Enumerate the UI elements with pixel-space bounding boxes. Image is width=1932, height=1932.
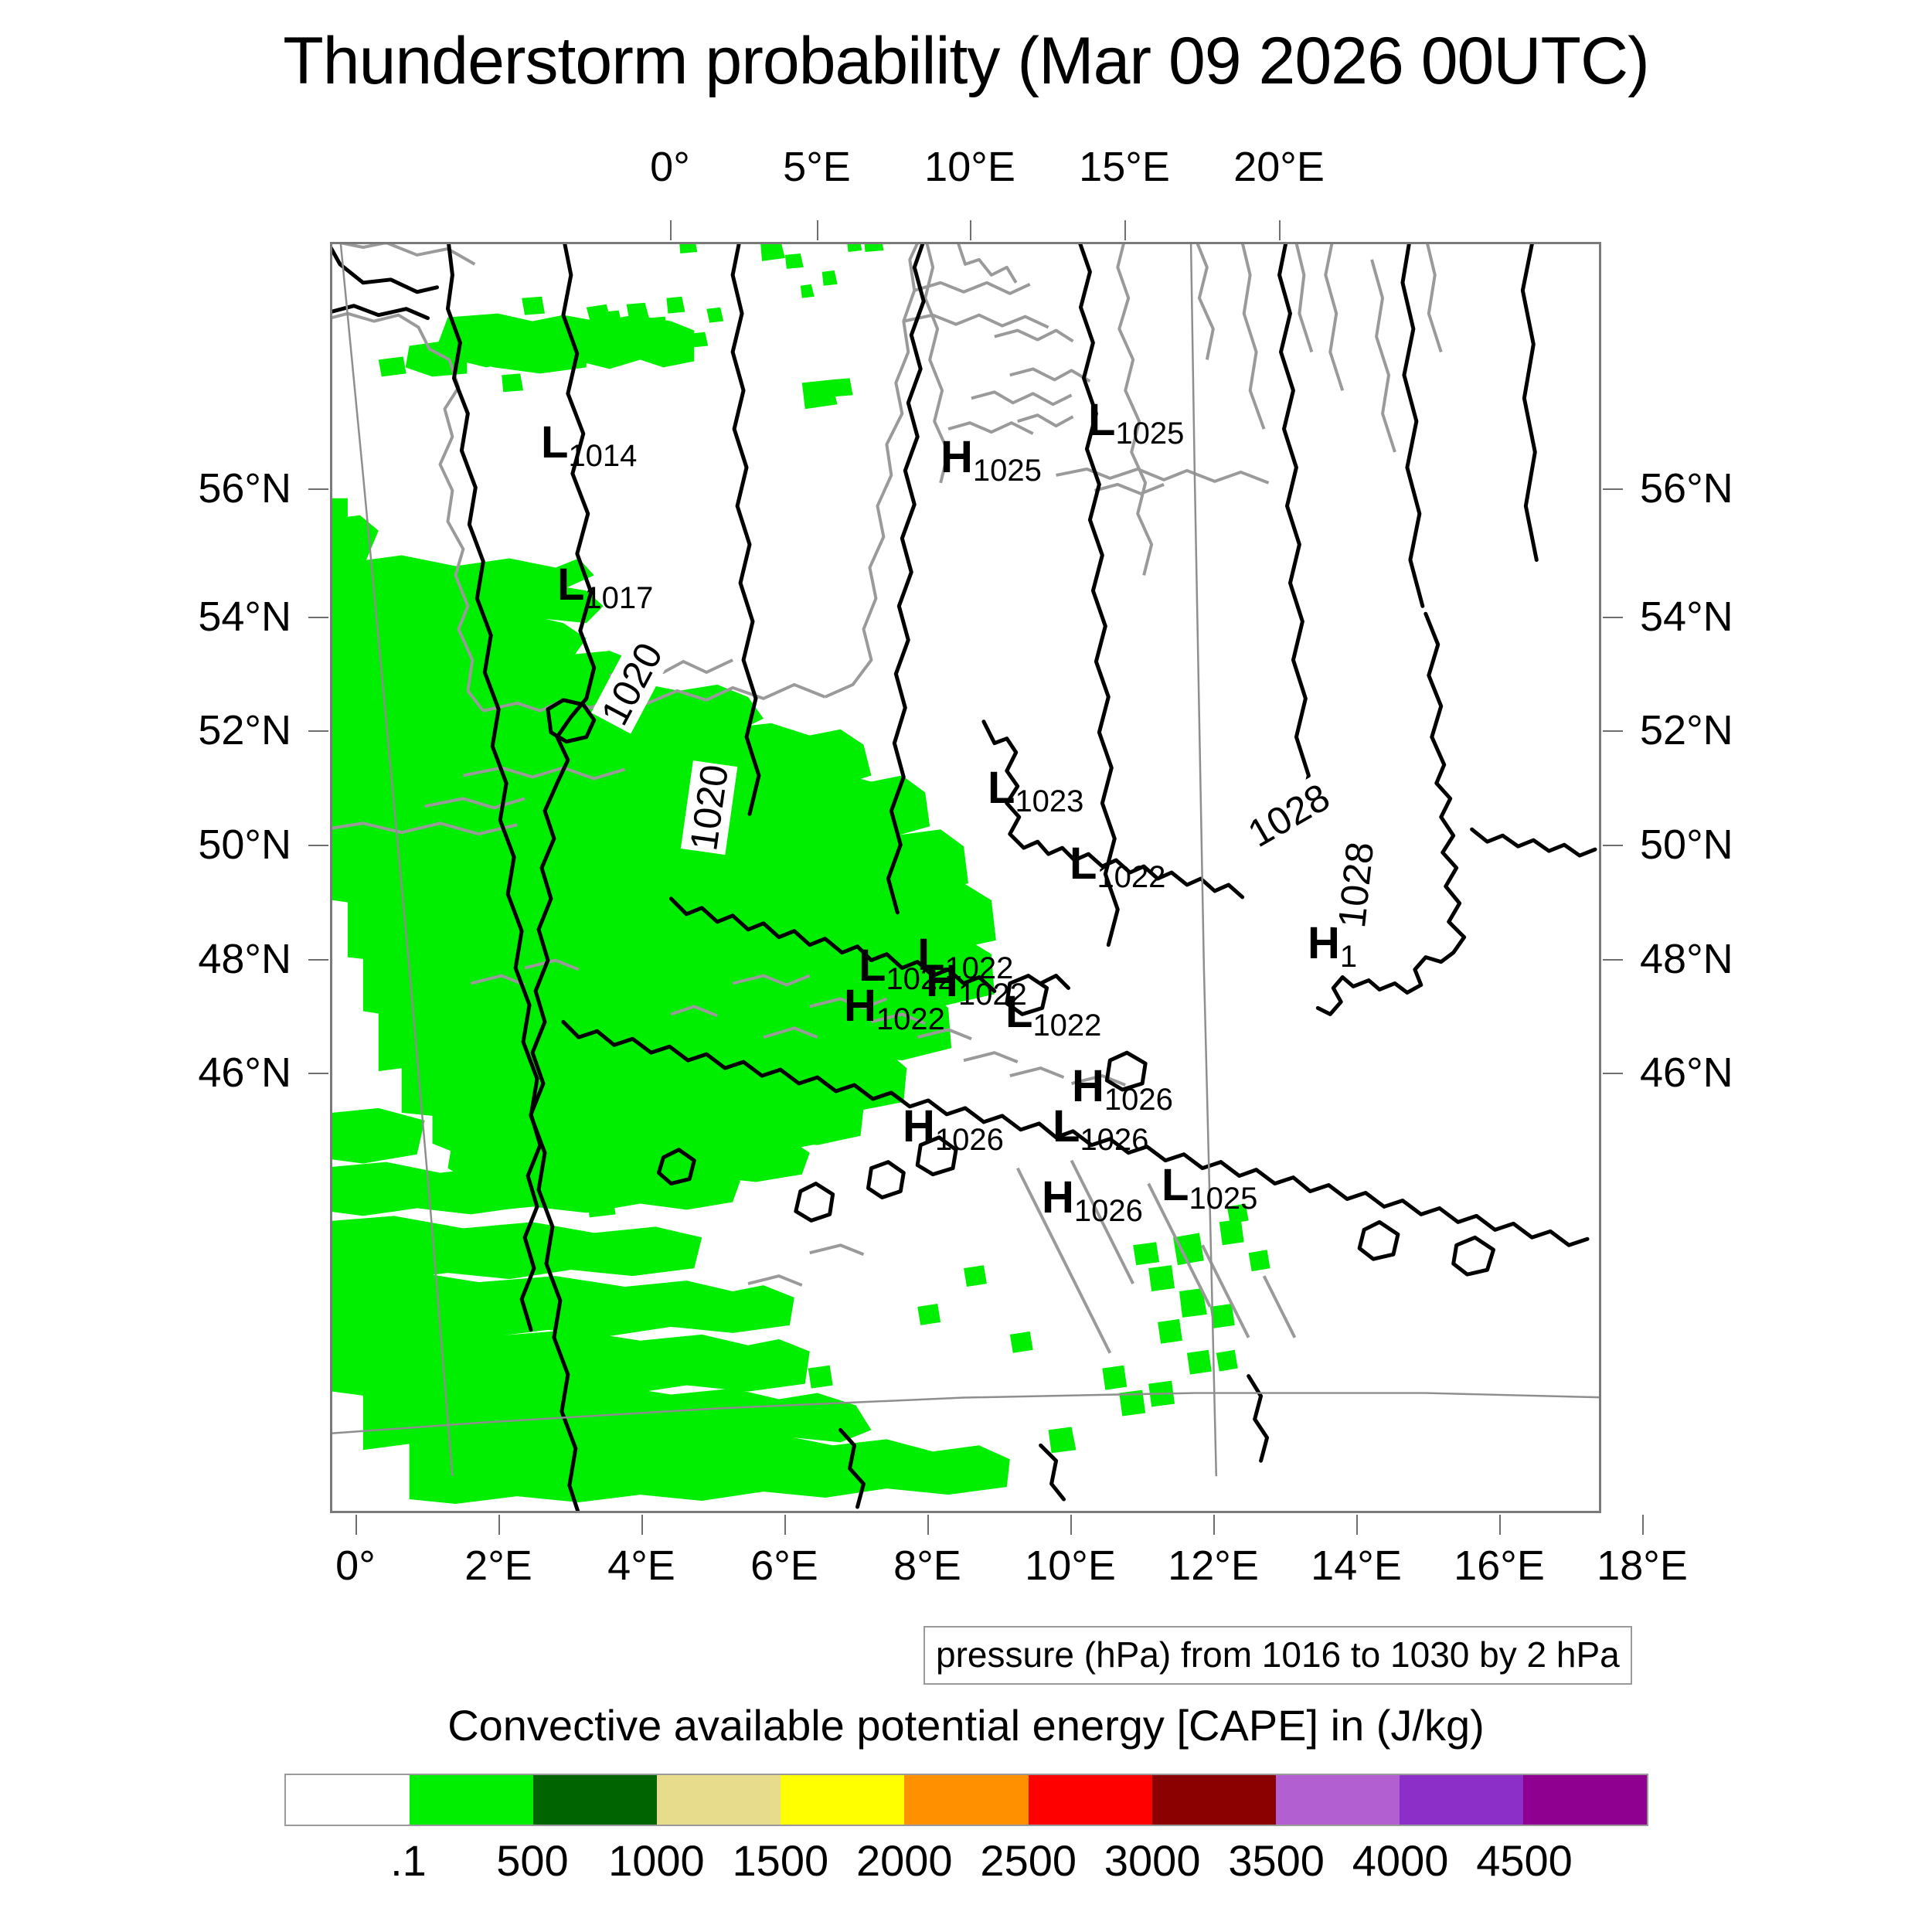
pressure-center-value: 1026 (935, 1123, 1004, 1157)
pressure-center-type: L (1070, 838, 1097, 889)
left-axis-tick-1 (308, 617, 328, 618)
bottom-axis-label-9: 18°E (1597, 1542, 1688, 1590)
colorbar-label-3: 1500 (733, 1835, 829, 1886)
pressure-center-value: 1025 (1115, 417, 1184, 451)
colorbar-swatch-above-4500[interactable] (1523, 1775, 1647, 1825)
bottom-axis-tick-8 (1499, 1515, 1501, 1535)
colorbar-label-4: 2000 (856, 1835, 953, 1886)
right-axis-label-4: 48°N (1640, 935, 1733, 983)
pressure-legend-box: pressure (hPa) from 1016 to 1030 by 2 hP… (923, 1626, 1632, 1685)
pressure-center-L-1017: L1017 (557, 563, 653, 614)
pressure-center-L-1025-b: L1025 (1162, 1163, 1257, 1214)
bottom-axis-tick-7 (1356, 1515, 1358, 1535)
top-axis-label-2: 10°E (924, 143, 1015, 191)
top-axis-label-4: 20°E (1233, 143, 1325, 191)
pressure-center-type: H (903, 1101, 935, 1151)
left-axis-label-5: 46°N (198, 1049, 291, 1097)
bottom-axis-tick-3 (784, 1515, 786, 1535)
pressure-center-L-1026: L1026 (1053, 1104, 1148, 1155)
colorbar-label-0: .1 (390, 1835, 427, 1886)
bottom-axis-tick-6 (1213, 1515, 1215, 1535)
colorbar-label-6: 3000 (1104, 1835, 1201, 1886)
colorbar-label-2: 1000 (608, 1835, 705, 1886)
bottom-axis-label-7: 14°E (1311, 1542, 1402, 1590)
bottom-axis-label-1: 2°E (464, 1542, 532, 1590)
top-axis-tick-1 (817, 220, 818, 240)
right-axis-label-5: 46°N (1640, 1049, 1733, 1097)
pressure-center-L-1014: L1014 (541, 420, 637, 471)
map-plot-area[interactable]: L1014L1017H1025L1025L1023L1022L1022L1022… (330, 242, 1601, 1513)
left-axis-tick-4 (308, 959, 328, 961)
pressure-center-value: 1025 (973, 454, 1042, 488)
colorbar-label-5: 2500 (980, 1835, 1077, 1886)
bottom-axis-label-0: 0° (335, 1542, 376, 1590)
bottom-axis-tick-2 (641, 1515, 643, 1535)
right-axis-tick-4 (1603, 959, 1623, 961)
top-axis-tick-3 (1124, 220, 1126, 240)
left-axis-label-3: 50°N (198, 821, 291, 869)
colorbar-tick-labels: .150010001500200025003000350040004500 (284, 1835, 1648, 1889)
pressure-center-value: 1022 (1097, 860, 1165, 894)
cape-colorbar[interactable] (284, 1774, 1648, 1826)
top-axis-label-1: 5°E (783, 143, 851, 191)
left-axis-label-2: 52°N (198, 706, 291, 754)
bottom-axis-tick-4 (927, 1515, 929, 1535)
pressure-center-type: L (541, 417, 568, 468)
colorbar-swatch-2500-3000[interactable] (1029, 1775, 1152, 1825)
pressure-center-type: L (1005, 987, 1032, 1037)
left-axis-tick-5 (308, 1073, 328, 1074)
top-axis-tick-2 (970, 220, 971, 240)
pressure-center-type: H (1042, 1172, 1074, 1223)
colorbar-swatch-500-1000[interactable] (533, 1775, 657, 1825)
right-axis-label-3: 50°N (1640, 821, 1733, 869)
pressure-center-value: 1023 (1015, 784, 1083, 818)
colorbar-swatch-4000-4500[interactable] (1400, 1775, 1523, 1825)
right-axis-tick-3 (1603, 845, 1623, 846)
pressure-center-value: 1022 (1032, 1009, 1101, 1043)
right-axis-tick-2 (1603, 730, 1623, 732)
pressure-center-value: 1025 (1189, 1182, 1257, 1216)
colorbar-caption: Convective available potential energy [C… (0, 1700, 1932, 1750)
bottom-axis-label-4: 8°E (893, 1542, 961, 1590)
colorbar-swatch-0.1-500[interactable] (410, 1775, 533, 1825)
colorbar-label-1: 500 (496, 1835, 568, 1886)
pressure-center-H-1022-b: H1022 (844, 984, 945, 1035)
left-axis-tick-3 (308, 845, 328, 846)
right-axis-tick-1 (1603, 617, 1623, 618)
bottom-axis-label-3: 6°E (750, 1542, 818, 1590)
colorbar-swatch-3000-3500[interactable] (1152, 1775, 1276, 1825)
top-axis-tick-0 (670, 220, 672, 240)
colorbar-label-8: 4000 (1352, 1835, 1449, 1886)
pressure-center-type: L (1053, 1101, 1080, 1151)
colorbar-label-9: 4500 (1476, 1835, 1573, 1886)
right-axis-label-2: 52°N (1640, 706, 1733, 754)
right-axis-label-1: 54°N (1640, 593, 1733, 641)
right-axis-tick-0 (1603, 488, 1623, 490)
pressure-center-H-1026-c: H1026 (1042, 1175, 1143, 1226)
pressure-center-type: L (988, 763, 1015, 813)
left-axis-tick-2 (308, 730, 328, 732)
pressure-center-type: L (1088, 395, 1115, 445)
contour-label-1028-b: 1028 (1329, 838, 1383, 932)
pressure-center-type: H (844, 981, 876, 1031)
pressure-center-type: L (557, 560, 584, 610)
pressure-center-L-1022-a: L1022 (1070, 842, 1165, 893)
bottom-axis-tick-9 (1642, 1515, 1644, 1535)
left-axis-label-0: 56°N (198, 464, 291, 512)
left-axis-label-4: 48°N (198, 935, 291, 983)
pressure-center-H-1026-b: H1026 (903, 1104, 1004, 1155)
bottom-axis-label-6: 12°E (1168, 1542, 1259, 1590)
page-title: Thunderstorm probability (Mar 09 2026 00… (0, 23, 1932, 100)
colorbar-swatch-1500-2000[interactable] (781, 1775, 904, 1825)
pressure-center-L-1023: L1023 (988, 766, 1083, 817)
colorbar-swatch-2000-2500[interactable] (904, 1775, 1028, 1825)
pressure-center-value: 1017 (584, 581, 653, 615)
pressure-center-value: 1014 (568, 439, 637, 473)
bottom-axis-label-8: 16°E (1454, 1542, 1545, 1590)
pressure-center-value: 1 (1340, 940, 1357, 974)
bottom-axis-label-5: 10°E (1025, 1542, 1116, 1590)
colorbar-swatch-below-0.1[interactable] (286, 1775, 410, 1825)
bottom-axis-tick-1 (498, 1515, 500, 1535)
bottom-axis-label-2: 4°E (607, 1542, 675, 1590)
pressure-center-L-1022-d: L1022 (1005, 990, 1101, 1041)
colorbar-label-7: 3500 (1228, 1835, 1325, 1886)
colorbar-swatch-3500-4000[interactable] (1276, 1775, 1400, 1825)
bottom-axis-tick-0 (355, 1515, 357, 1535)
bottom-axis-tick-5 (1070, 1515, 1072, 1535)
top-axis-tick-4 (1279, 220, 1281, 240)
pressure-center-value: 1026 (1074, 1194, 1143, 1228)
pressure-center-H-1025: H1025 (940, 435, 1042, 486)
left-axis-tick-0 (308, 488, 328, 490)
left-axis-label-1: 54°N (198, 593, 291, 641)
pressure-center-type: L (1162, 1160, 1189, 1210)
top-axis-label-0: 0° (650, 143, 690, 191)
pressure-center-value: 1026 (1080, 1123, 1148, 1157)
pressure-center-L-1025: L1025 (1088, 398, 1184, 449)
colorbar-swatch-1000-1500[interactable] (657, 1775, 781, 1825)
right-axis-tick-5 (1603, 1073, 1623, 1074)
pressure-center-value: 1022 (876, 1002, 945, 1036)
top-axis-label-3: 15°E (1079, 143, 1170, 191)
right-axis-label-0: 56°N (1640, 464, 1733, 512)
pressure-center-type: H (940, 432, 973, 482)
